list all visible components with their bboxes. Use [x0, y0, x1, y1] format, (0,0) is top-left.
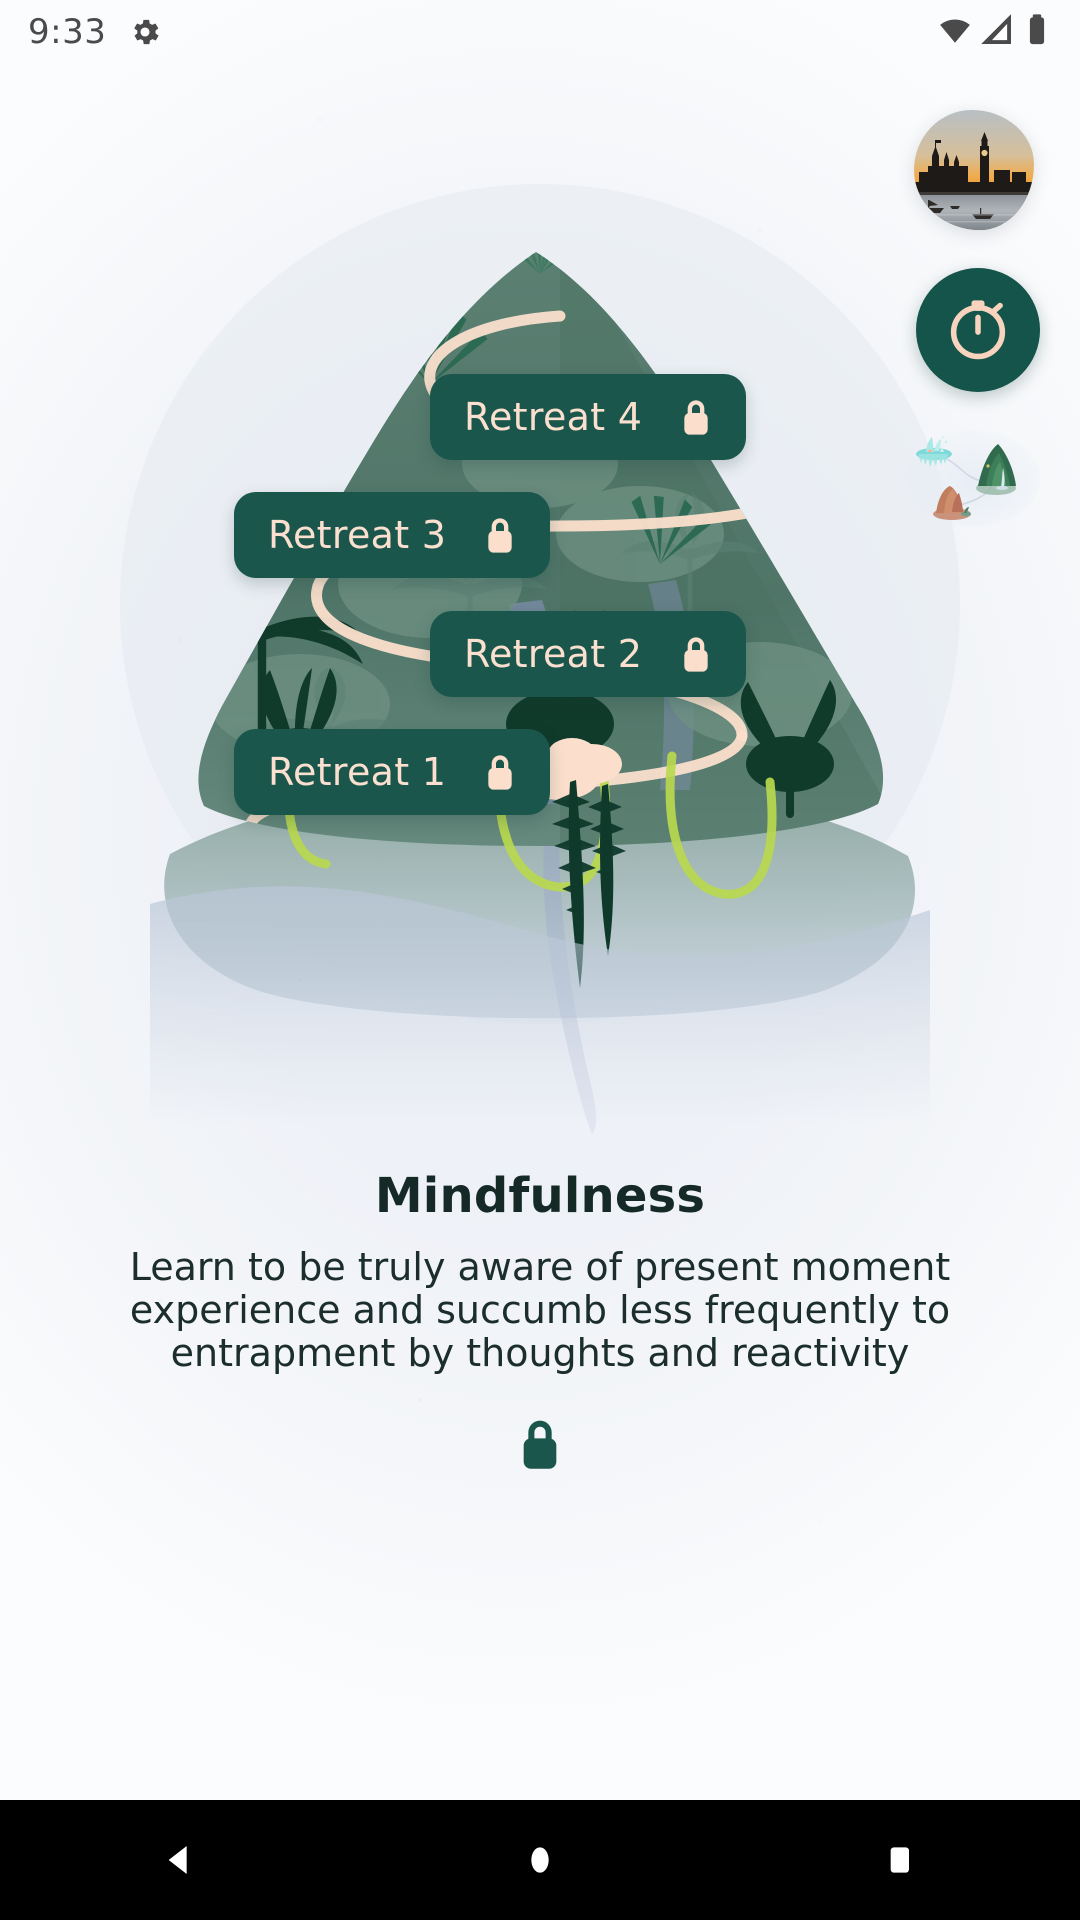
- status-bar-clock: 9:33: [28, 12, 106, 52]
- battery-icon: [1022, 13, 1052, 51]
- retreat-3-label: Retreat 3: [268, 513, 446, 557]
- retreat-1-badge[interactable]: Retreat 1: [234, 729, 550, 815]
- lock-icon: [480, 750, 520, 794]
- retreat-1-label: Retreat 1: [268, 750, 446, 794]
- app-screen: 9:33: [0, 0, 1080, 1800]
- android-navigation-bar: [0, 1800, 1080, 1920]
- course-info: Mindfulness Learn to be truly aware of p…: [0, 1168, 1080, 1475]
- world-map-thumbnail[interactable]: [904, 420, 1044, 530]
- retreat-3-badge[interactable]: Retreat 3: [234, 492, 550, 578]
- page-title: Mindfulness: [0, 1168, 1080, 1224]
- retreat-4-label: Retreat 4: [464, 395, 642, 439]
- status-bar: 9:33: [0, 0, 1080, 64]
- timer-button[interactable]: [916, 268, 1040, 392]
- retreat-4-badge[interactable]: Retreat 4: [430, 374, 746, 460]
- status-bar-indicators: [938, 13, 1052, 51]
- wifi-icon: [938, 13, 972, 51]
- avatar[interactable]: [914, 110, 1034, 230]
- lock-icon: [676, 632, 716, 676]
- lock-icon: [676, 395, 716, 439]
- home-nav-button[interactable]: [360, 1840, 720, 1880]
- cellular-signal-icon: [980, 13, 1014, 51]
- gear-icon: [128, 15, 162, 49]
- course-description: Learn to be truly aware of present momen…: [0, 1246, 1080, 1375]
- retreat-2-badge[interactable]: Retreat 2: [430, 611, 746, 697]
- course-lock-icon: [0, 1413, 1080, 1475]
- lock-icon: [480, 513, 520, 557]
- stopwatch-icon: [939, 289, 1017, 371]
- recents-nav-button[interactable]: [720, 1840, 1080, 1880]
- back-nav-button[interactable]: [0, 1840, 360, 1880]
- retreat-2-label: Retreat 2: [464, 632, 642, 676]
